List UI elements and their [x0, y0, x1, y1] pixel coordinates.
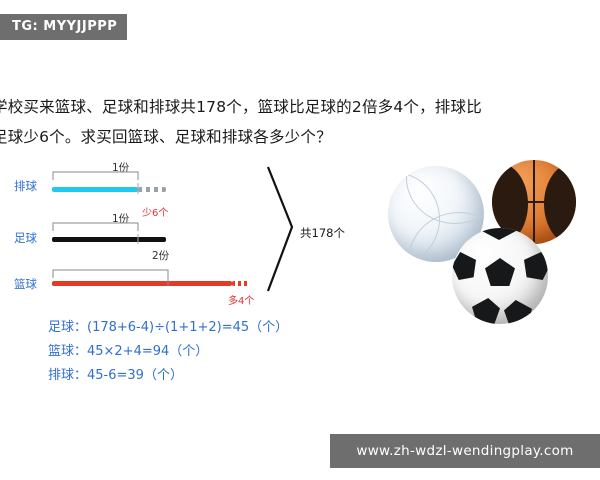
- soccer-patch: [504, 300, 532, 324]
- row-label-lanqiu: 篮球: [14, 276, 37, 292]
- soccer-patch: [524, 252, 548, 280]
- footer-url-bar: www.zh-wdzl-wendingplay.com: [330, 434, 600, 468]
- note-shao-6: 少6个: [142, 204, 168, 219]
- soccer-patch: [485, 258, 515, 286]
- unit-label-paiqiu: 1份: [112, 160, 129, 175]
- bar-lanqiu-dashed-extension: [232, 281, 250, 286]
- soccer-patch: [482, 228, 516, 240]
- answer-lanqiu: 篮球：45×2+4=94（个）: [48, 340, 288, 364]
- bar-paiqiu-dashed-extension: [138, 187, 166, 192]
- soccer-ball-image: [452, 228, 548, 324]
- answer-paiqiu: 排球：45-6=39（个）: [48, 364, 288, 388]
- problem-line-2: 足球少6个。求买回篮球、足球和排球各多少个？: [0, 122, 600, 152]
- bar-zuqiu: [52, 237, 166, 242]
- problem-statement: 学校买来篮球、足球和排球共178个，篮球比足球的2倍多4个，排球比 足球少6个。…: [0, 92, 600, 152]
- bar-paiqiu: [52, 187, 138, 192]
- soccer-patch: [452, 252, 476, 280]
- basketball-curve: [544, 162, 576, 244]
- footer-url-text: www.zh-wdzl-wendingplay.com: [356, 443, 573, 459]
- note-duo-4: 多4个: [228, 292, 254, 307]
- bar-lanqiu: [52, 281, 232, 286]
- unit-label-lanqiu: 2份: [152, 248, 169, 263]
- soccer-patch: [472, 298, 500, 324]
- tg-badge: TG: MYYJJPPP: [0, 14, 127, 40]
- unit-label-zuqiu: 1份: [112, 211, 129, 226]
- row-label-paiqiu: 排球: [14, 178, 37, 194]
- total-label: 共178个: [300, 225, 345, 241]
- row-label-zuqiu: 足球: [14, 230, 37, 246]
- answer-block: 足球：(178+6-4)÷(1+1+2)=45（个） 篮球：45×2+4=94（…: [48, 316, 288, 388]
- answer-zuqiu: 足球：(178+6-4)÷(1+1+2)=45（个）: [48, 316, 288, 340]
- problem-line-1: 学校买来篮球、足球和排球共178个，篮球比足球的2倍多4个，排球比: [0, 98, 482, 116]
